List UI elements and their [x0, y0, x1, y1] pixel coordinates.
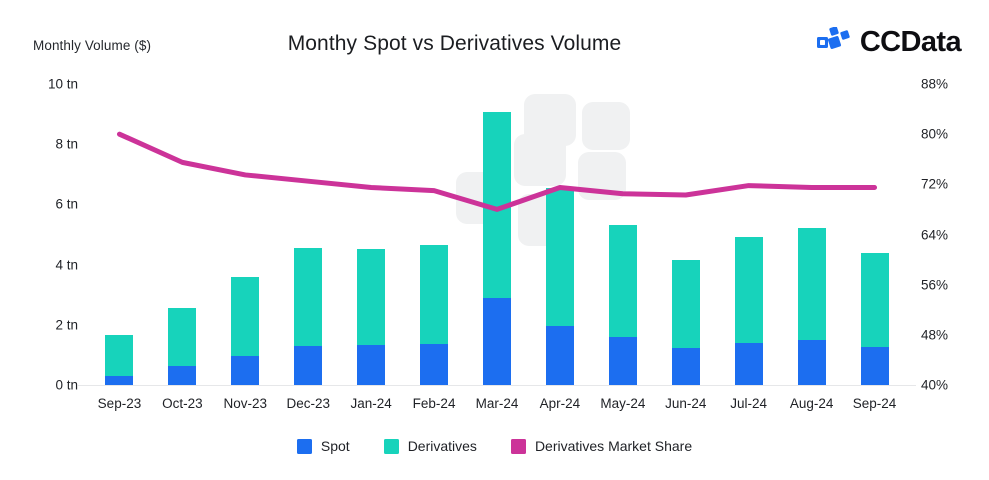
bar-segment-spot[interactable]: [105, 376, 133, 385]
y-axis-left-tick: 8 tn: [55, 137, 78, 152]
legend-swatch-icon: [511, 439, 526, 454]
y-axis-left-tick: 6 tn: [55, 197, 78, 212]
bar-series-layer: [88, 84, 906, 385]
y-axis-left-tick: 10 tn: [48, 77, 78, 92]
legend-swatch-icon: [384, 439, 399, 454]
x-axis-tick-label: May-24: [600, 396, 645, 411]
bar-segment-derivatives[interactable]: [231, 277, 259, 355]
bar-segment-spot[interactable]: [798, 340, 826, 385]
bar-segment-spot[interactable]: [357, 345, 385, 385]
x-axis-tick-label: Apr-24: [540, 396, 581, 411]
bar-segment-derivatives[interactable]: [861, 253, 889, 347]
bar-segment-spot[interactable]: [672, 348, 700, 385]
x-axis-tick-label: Jul-24: [730, 396, 767, 411]
y-axis-right-tick: 48%: [921, 327, 948, 342]
x-axis-labels: Sep-23Oct-23Nov-23Dec-23Jan-24Feb-24Mar-…: [88, 396, 906, 418]
ccdata-mark-icon: [817, 27, 851, 57]
bar-segment-derivatives[interactable]: [420, 245, 448, 344]
bar-segment-derivatives[interactable]: [168, 308, 196, 366]
legend-item[interactable]: Derivatives Market Share: [511, 438, 692, 454]
y-axis-right-tick: 80%: [921, 127, 948, 142]
x-axis-tick-label: Mar-24: [476, 396, 519, 411]
x-axis-tick-label: Jun-24: [665, 396, 706, 411]
y-axis-right-tick: 88%: [921, 77, 948, 92]
chart-container: Monthly Volume ($) Monthy Spot vs Deriva…: [0, 0, 989, 480]
bar-segment-derivatives[interactable]: [735, 237, 763, 344]
y-axis-right-tick: 56%: [921, 277, 948, 292]
x-axis-tick-label: Oct-23: [162, 396, 203, 411]
bar-segment-spot[interactable]: [735, 343, 763, 385]
bar-segment-spot[interactable]: [609, 337, 637, 385]
bar-segment-derivatives[interactable]: [798, 228, 826, 340]
bar-segment-spot[interactable]: [483, 298, 511, 385]
legend-item[interactable]: Derivatives: [384, 438, 477, 454]
y-axis-left-tick: 2 tn: [55, 317, 78, 332]
x-axis-tick-label: Nov-23: [224, 396, 268, 411]
bar-segment-derivatives[interactable]: [357, 249, 385, 345]
x-axis-tick-label: Dec-23: [286, 396, 330, 411]
brand-name: CCData: [860, 28, 961, 57]
bar-segment-spot[interactable]: [231, 356, 259, 385]
bar-segment-derivatives[interactable]: [294, 248, 322, 347]
bar-segment-derivatives[interactable]: [609, 225, 637, 338]
chart-legend: SpotDerivativesDerivatives Market Share: [0, 438, 989, 454]
x-axis-tick-label: Sep-24: [853, 396, 897, 411]
bar-segment-spot[interactable]: [861, 347, 889, 385]
y-axis-left-tick: 4 tn: [55, 257, 78, 272]
y-axis-right-tick: 40%: [921, 378, 948, 393]
y-axis-left-tick: 0 tn: [55, 378, 78, 393]
legend-label: Derivatives Market Share: [535, 438, 692, 454]
legend-label: Derivatives: [408, 438, 477, 454]
x-axis-tick-label: Feb-24: [413, 396, 456, 411]
bar-segment-derivatives[interactable]: [105, 335, 133, 376]
bar-segment-spot[interactable]: [294, 346, 322, 385]
bar-segment-spot[interactable]: [420, 344, 448, 385]
y-axis-right-tick: 72%: [921, 177, 948, 192]
brand-logo: CCData: [817, 27, 961, 57]
legend-item[interactable]: Spot: [297, 438, 350, 454]
x-axis-tick-label: Aug-24: [790, 396, 834, 411]
bar-segment-spot[interactable]: [168, 366, 196, 385]
legend-swatch-icon: [297, 439, 312, 454]
y-axis-right-tick: 64%: [921, 227, 948, 242]
bar-segment-derivatives[interactable]: [546, 188, 574, 326]
x-axis-tick-label: Sep-23: [98, 396, 142, 411]
x-axis-tick-label: Jan-24: [351, 396, 392, 411]
bar-segment-derivatives[interactable]: [672, 260, 700, 348]
legend-label: Spot: [321, 438, 350, 454]
bar-segment-spot[interactable]: [546, 326, 574, 385]
bar-segment-derivatives[interactable]: [483, 112, 511, 298]
